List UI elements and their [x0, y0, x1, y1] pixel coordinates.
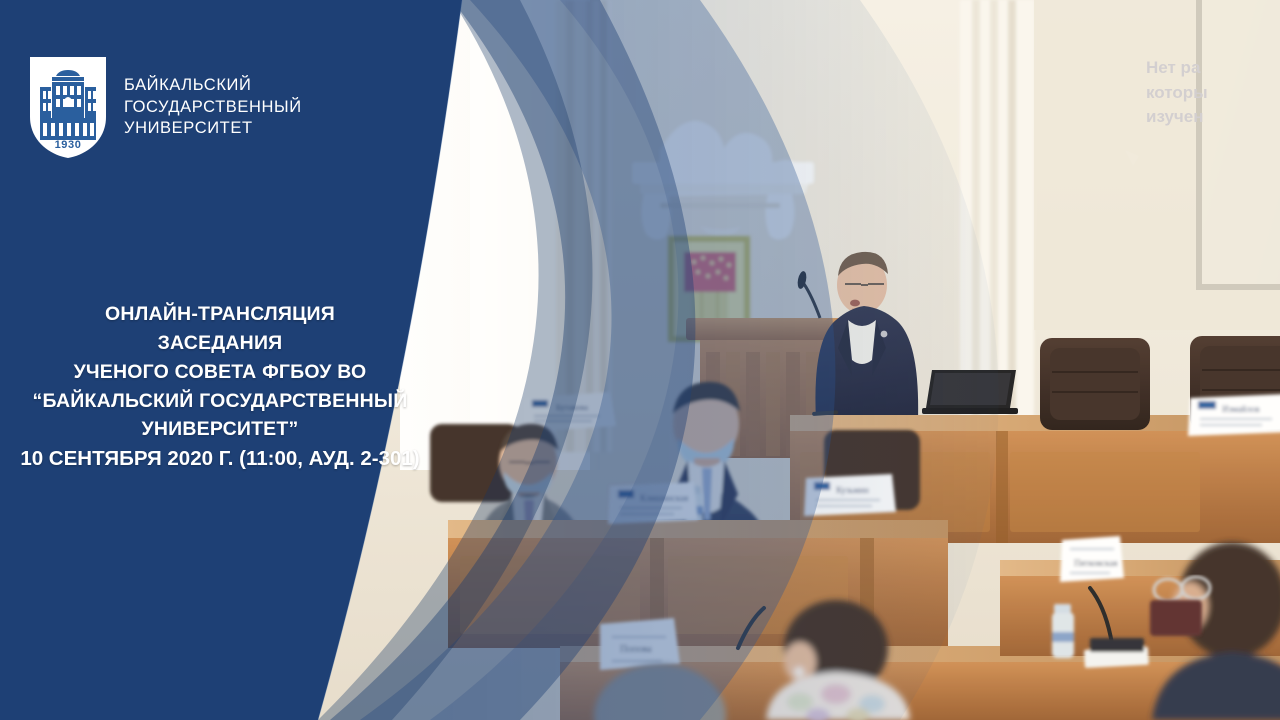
- title-line-3: УЧЕНОГО СОВЕТА ФГБОУ ВО: [0, 358, 440, 387]
- title-line-4: “БАЙКАЛЬСКИЙ ГОСУДАРСТВЕННЫЙ: [0, 387, 440, 416]
- university-logo: 1930 БАЙКАЛЬСКИЙ ГОСУДАРСТВЕННЫЙ УНИВЕРС…: [28, 55, 302, 160]
- title-line-1: ОНЛАЙН-ТРАНСЛЯЦИЯ: [0, 300, 440, 329]
- broadcast-title: ОНЛАЙН-ТРАНСЛЯЦИЯ ЗАСЕДАНИЯ УЧЕНОГО СОВЕ…: [0, 300, 440, 475]
- title-line-date: 10 СЕНТЯБРЯ 2020 Г. (11:00, АУД. 2-301): [0, 444, 440, 474]
- university-wordmark: БАЙКАЛЬСКИЙ ГОСУДАРСТВЕННЫЙ УНИВЕРСИТЕТ: [124, 75, 302, 140]
- title-line-5: УНИВЕРСИТЕТ”: [0, 415, 440, 444]
- shield-year: 1930: [28, 139, 108, 151]
- title-line-2: ЗАСЕДАНИЯ: [0, 329, 440, 358]
- broadcast-title-card: Нет ра которы изучен: [0, 0, 1280, 720]
- university-shield-logo: 1930: [28, 55, 108, 160]
